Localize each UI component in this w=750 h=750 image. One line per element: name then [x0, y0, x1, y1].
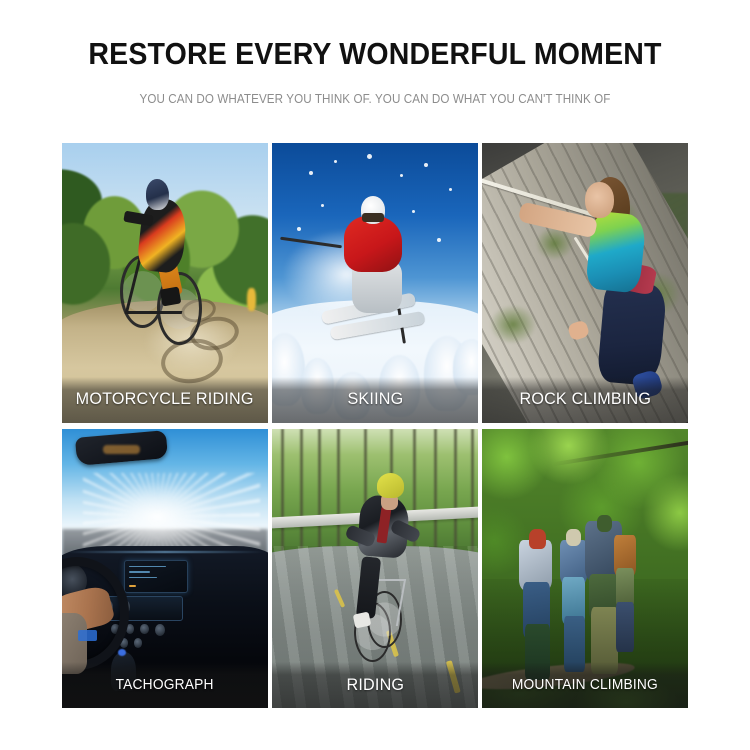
tachograph-photo — [62, 429, 268, 709]
promo-page: RESTORE EVERY WONDERFUL MOMENT YOU CAN D… — [0, 0, 750, 750]
riding-photo — [272, 429, 478, 709]
gallery-tile-rock-climbing[interactable]: ROCK CLIMBING — [482, 143, 688, 423]
gallery-tile-riding[interactable]: RIDING — [272, 429, 478, 709]
skiing-photo — [272, 143, 478, 423]
activity-gallery-grid: MOTORCYCLE RIDING — [62, 143, 688, 708]
motorcycle-riding-photo — [62, 143, 268, 423]
mountain-climbing-photo — [482, 429, 688, 709]
page-header: RESTORE EVERY WONDERFUL MOMENT YOU CAN D… — [0, 0, 750, 107]
page-subtitle: YOU CAN DO WHATEVER YOU THINK OF. YOU CA… — [26, 72, 724, 107]
gallery-tile-motorcycle-riding[interactable]: MOTORCYCLE RIDING — [62, 143, 268, 423]
gallery-tile-mountain-climbing[interactable]: MOUNTAIN CLIMBING — [482, 429, 688, 709]
gallery-tile-skiing[interactable]: SKIING — [272, 143, 478, 423]
gallery-tile-tachograph[interactable]: TACHOGRAPH — [62, 429, 268, 709]
page-title: RESTORE EVERY WONDERFUL MOMENT — [30, 0, 720, 72]
rock-climbing-photo — [482, 143, 688, 423]
